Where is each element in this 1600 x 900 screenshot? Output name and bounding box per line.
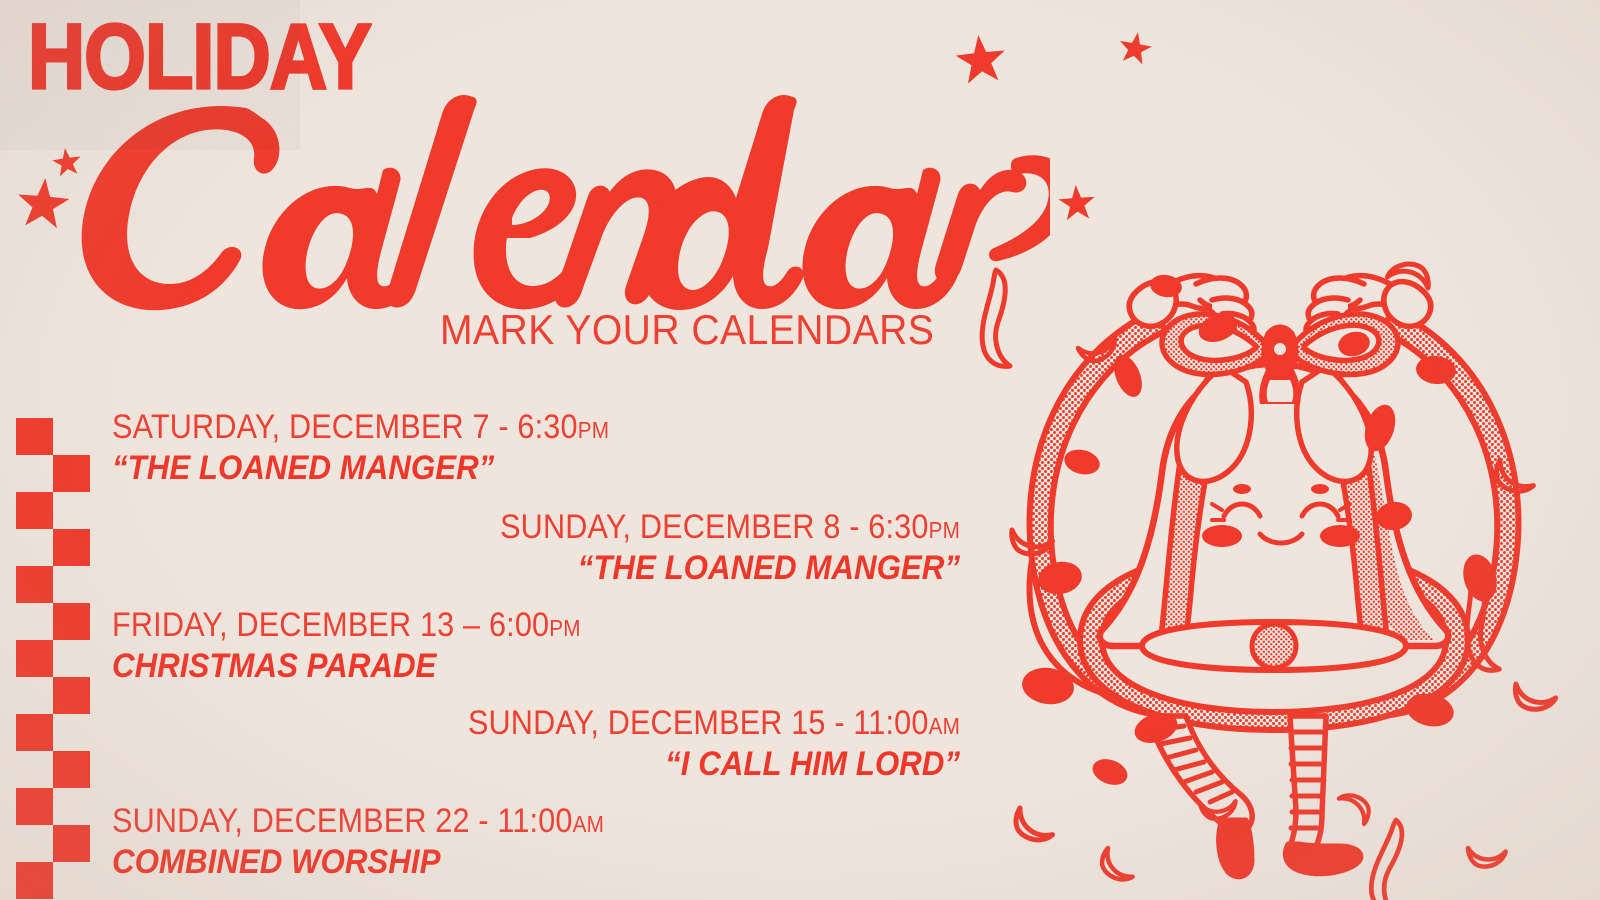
star-right-small	[1057, 184, 1098, 225]
confetti-crescent	[1467, 836, 1509, 871]
event-ampm: PM	[549, 615, 580, 641]
event-item: SUNDAY, DECEMBER 15 - 11:00AM“I CALL HIM…	[80, 704, 960, 784]
event-item: SUNDAY, DECEMBER 8 - 6:30PM“THE LOANED M…	[80, 508, 960, 588]
event-date-text: FRIDAY, DECEMBER 13 – 6:00	[112, 606, 549, 644]
event-title: COMBINED WORSHIP	[112, 843, 922, 882]
event-date-text: SUNDAY, DECEMBER 15 - 11:00	[468, 704, 929, 742]
event-date: SUNDAY, DECEMBER 8 - 6:30PM	[168, 508, 960, 547]
confetti-crescent	[1334, 791, 1373, 824]
confetti-solid	[1089, 755, 1131, 790]
event-ampm: PM	[929, 517, 960, 543]
star-top-right-small	[1115, 29, 1154, 68]
event-date-text: SATURDAY, DECEMBER 7 - 6:30	[112, 408, 578, 446]
event-date-text: SUNDAY, DECEMBER 22 - 11:00	[112, 802, 573, 840]
headline-calendar-script	[50, 78, 1050, 318]
event-item: SUNDAY, DECEMBER 22 - 11:00AMCOMBINED WO…	[112, 802, 992, 882]
event-date: SATURDAY, DECEMBER 7 - 6:30PM	[112, 408, 904, 447]
confetti-solid	[1062, 446, 1103, 478]
event-item: FRIDAY, DECEMBER 13 – 6:00PMCHRISTMAS PA…	[112, 606, 992, 686]
event-ampm: AM	[573, 811, 604, 837]
dancing-bell-character-illustration	[960, 248, 1600, 900]
event-ampm: AM	[929, 713, 960, 739]
confetti-ribbon	[1367, 818, 1409, 900]
event-item: SATURDAY, DECEMBER 7 - 6:30PM“THE LOANED…	[112, 408, 992, 488]
event-title: CHRISTMAS PARADE	[112, 647, 922, 686]
confetti-crescent	[1515, 680, 1557, 711]
event-title: “THE LOANED MANGER”	[112, 449, 922, 488]
event-list: SATURDAY, DECEMBER 7 - 6:30PM“THE LOANED…	[0, 398, 960, 898]
event-ampm: PM	[578, 417, 609, 443]
confetti-solid	[1020, 665, 1077, 708]
event-date: SUNDAY, DECEMBER 15 - 11:00AM	[168, 704, 960, 743]
star-left-small	[50, 146, 84, 180]
poster-canvas: HOLIDAY	[0, 0, 1600, 900]
event-date-text: SUNDAY, DECEMBER 8 - 6:30	[500, 508, 929, 546]
event-date: SUNDAY, DECEMBER 22 - 11:00AM	[112, 802, 904, 841]
event-date: FRIDAY, DECEMBER 13 – 6:00PM	[112, 606, 904, 645]
star-left-large	[14, 176, 73, 235]
headline-block: HOLIDAY	[0, 0, 1040, 370]
confetti-crescent	[1012, 808, 1057, 844]
confetti-crescent	[1097, 848, 1139, 885]
event-title: “THE LOANED MANGER”	[150, 549, 960, 588]
event-title: “I CALL HIM LORD”	[150, 745, 960, 784]
star-top-right-large	[952, 32, 1009, 89]
